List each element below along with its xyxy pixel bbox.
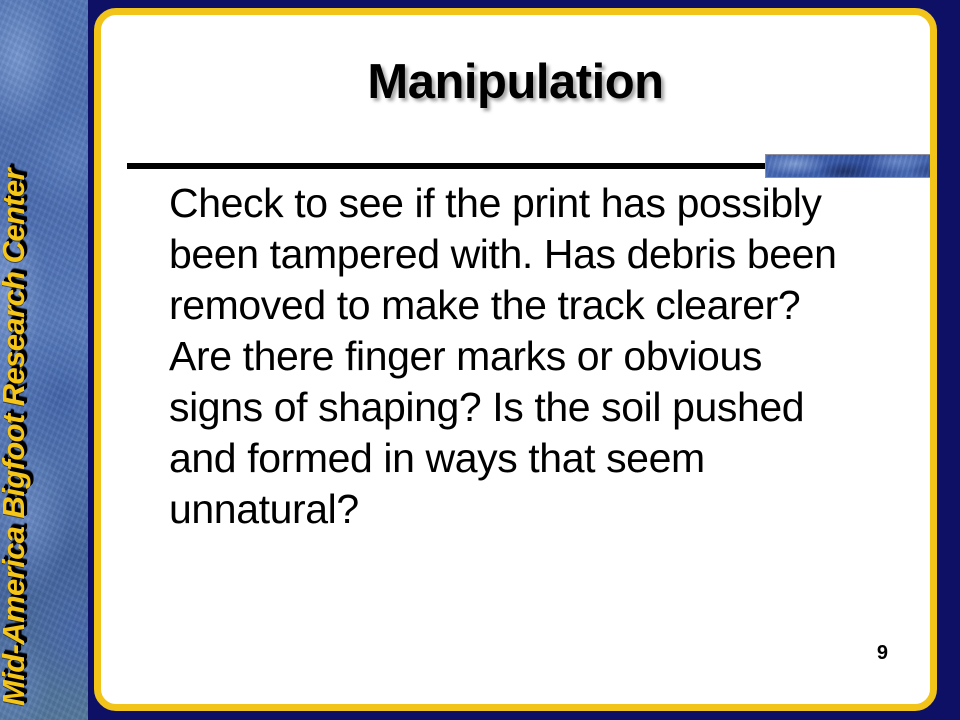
slide-body-text: Check to see if the print has possiblybe… [169,178,909,535]
body-line: and formed in ways that seem [169,433,909,484]
body-line: signs of shaping? Is the soil pushed [169,382,909,433]
title-divider [127,154,937,178]
body-line: removed to make the track clearer? [169,280,909,331]
divider-accent-block [765,154,937,178]
body-line: been tampered with. Has debris been [169,229,909,280]
slide-content-area: Manipulation Check to see if the print h… [94,8,937,711]
slide-title: Manipulation [101,54,930,110]
body-line: unnatural? [169,484,909,535]
slide-frame: Manipulation Check to see if the print h… [88,0,960,720]
body-line: Check to see if the print has possibly [169,178,909,229]
body-line: Are there finger marks or obvious [169,331,909,382]
sidebar-texture-panel [0,0,88,720]
page-number: 9 [877,642,888,665]
presentation-slide: Mid-America Bigfoot Research Center Mani… [0,0,960,720]
divider-rule [127,163,772,169]
